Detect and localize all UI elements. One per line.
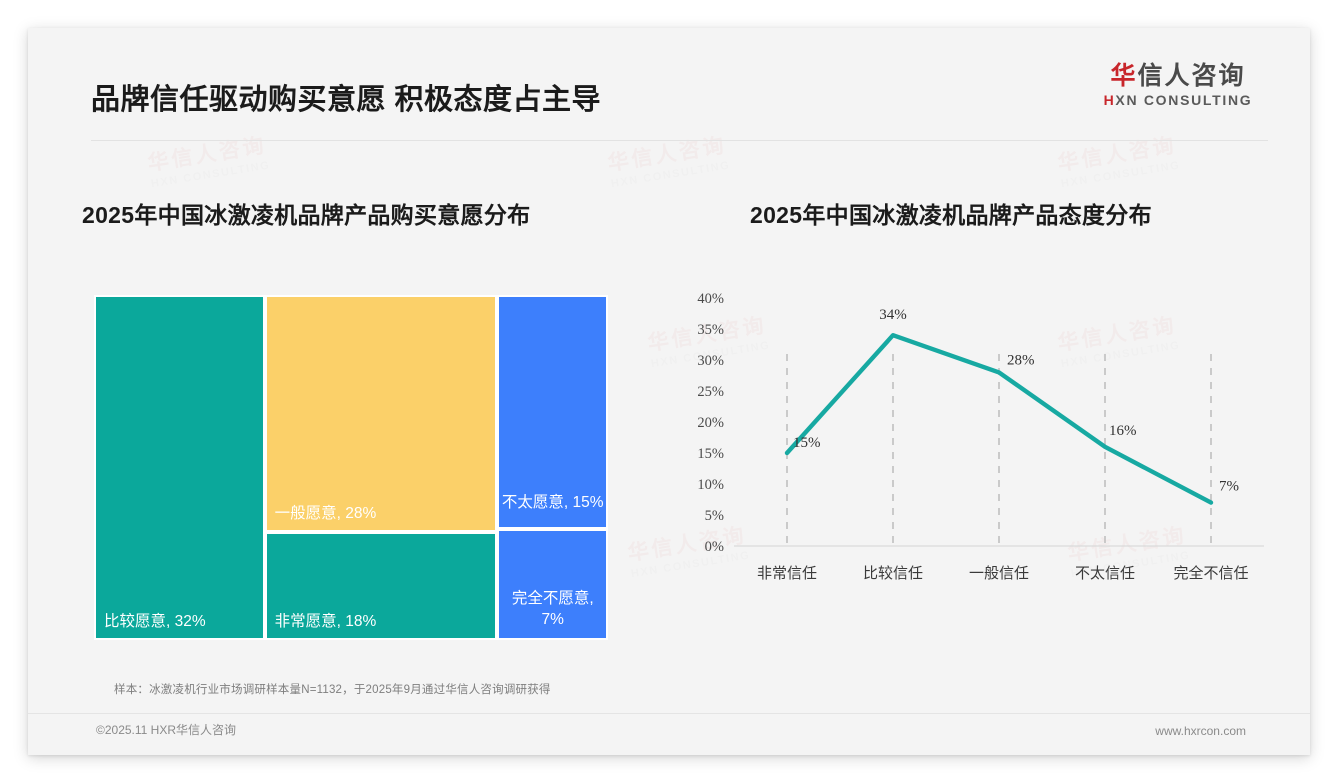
slide-canvas: 华信人咨询 HXN CONSULTING 华信人咨询 HXN CONSULTIN…: [28, 28, 1310, 755]
x-axis-label[interactable]: 非常信任: [757, 565, 817, 582]
logo-en-rest: XN CONSULTING: [1115, 92, 1252, 108]
right-chart-title: 2025年中国冰激凌机品牌产品态度分布: [750, 196, 1152, 230]
treemap-tile-not-very-willing[interactable]: 不太愿意, 15%: [497, 295, 608, 529]
x-axis-category-labels: 非常信任比较信任一般信任不太信任完全不信任: [757, 564, 1249, 582]
x-axis-label[interactable]: 完全不信任: [1173, 564, 1248, 582]
y-axis-tick-label: 10%: [697, 477, 724, 493]
treemap-tile-not-willing-at-all[interactable]: 完全不愿意, 7%: [497, 529, 608, 640]
y-axis-tick-label: 0%: [705, 539, 724, 555]
y-axis-tick-label: 25%: [697, 384, 724, 400]
footer-divider: [28, 713, 1310, 714]
data-label: 7%: [1219, 479, 1239, 495]
logo-en-accent: H: [1104, 92, 1116, 108]
y-axis-tick-label: 35%: [697, 322, 724, 338]
treemap-tile-label: 不太愿意, 15%: [499, 493, 606, 514]
treemap-tile-somewhat-willing[interactable]: 比较愿意, 32%: [94, 295, 265, 640]
y-axis-tick-label: 5%: [705, 508, 724, 524]
data-label: 28%: [1007, 352, 1035, 368]
data-label: 34%: [879, 307, 907, 323]
website-link[interactable]: www.hxrcon.com: [1155, 724, 1246, 738]
brand-logo: 华信人咨询 HXN CONSULTING: [1088, 63, 1268, 108]
page-title: 品牌信任驱动购买意愿 积极态度占主导: [91, 76, 601, 118]
logo-chinese: 华信人咨询: [1088, 63, 1268, 89]
attitude-line-chart: 0%5%10%15%20%25%30%35%40% 15%34%28%16%7%…: [668, 280, 1278, 610]
charts-area: 2025年中国冰激凌机品牌产品购买意愿分布 2025年中国冰激凌机品牌产品态度分…: [28, 140, 1310, 675]
treemap-tile-very-willing[interactable]: 非常愿意, 18%: [265, 532, 498, 640]
copyright-text: ©2025.11 HXR华信人咨询: [96, 721, 236, 738]
y-axis-tick-label: 20%: [697, 415, 724, 431]
treemap-tile-label: 比较愿意, 32%: [104, 609, 206, 631]
logo-accent-char: 华: [1110, 62, 1137, 90]
y-axis-tick-labels: 0%5%10%15%20%25%30%35%40%: [697, 291, 724, 555]
treemap-tile-label: 完全不愿意, 7%: [499, 589, 606, 631]
logo-english: HXN CONSULTING: [1088, 92, 1268, 108]
treemap-tile-label: 非常愿意, 18%: [275, 609, 377, 631]
x-axis-label[interactable]: 不太信任: [1075, 565, 1135, 582]
logo-chinese-rest: 信人咨询: [1138, 62, 1246, 90]
sample-footnote: 样本：冰激凌机行业市场调研样本量N=1132，于2025年9月通过华信人咨询调研…: [114, 681, 551, 697]
data-label: 16%: [1109, 423, 1137, 439]
x-axis-label[interactable]: 一般信任: [969, 565, 1029, 582]
data-point-labels: 15%34%28%16%7%: [793, 307, 1239, 494]
left-chart-title: 2025年中国冰激凌机品牌产品购买意愿分布: [82, 196, 530, 230]
line-chart-svg: 0%5%10%15%20%25%30%35%40% 15%34%28%16%7%…: [668, 280, 1278, 610]
y-axis-tick-label: 30%: [697, 353, 724, 369]
y-axis-tick-label: 15%: [697, 446, 724, 462]
header-divider: [91, 140, 1268, 141]
x-axis-label[interactable]: 比较信任: [863, 564, 923, 582]
slide-header: 品牌信任驱动购买意愿 积极态度占主导 华信人咨询 HXN CONSULTING: [28, 28, 1310, 123]
y-axis-tick-label: 40%: [697, 291, 724, 307]
data-label: 15%: [793, 435, 821, 451]
treemap-tile-label: 一般愿意, 28%: [275, 501, 377, 523]
treemap-tile-neutral-willing[interactable]: 一般愿意, 28%: [265, 295, 498, 532]
purchase-intent-treemap: 比较愿意, 32% 一般愿意, 28% 非常愿意, 18% 不太愿意, 15% …: [94, 295, 608, 640]
